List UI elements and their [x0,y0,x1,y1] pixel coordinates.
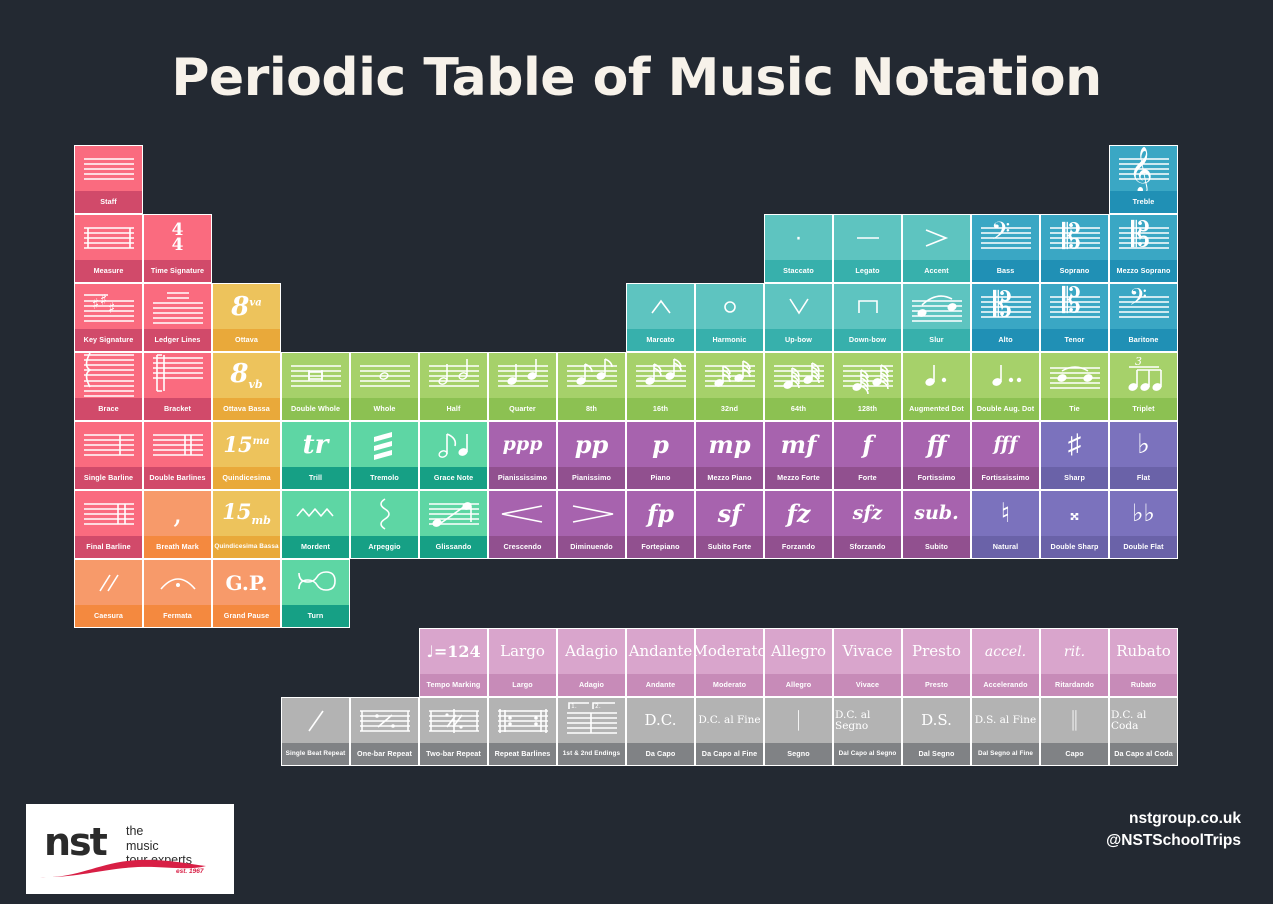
element-cell-up-bow[interactable]: Up-bow [764,283,833,352]
element-cell-single-barline[interactable]: Single Barline [74,421,143,490]
pp-icon: pp [558,422,625,467]
element-cell-tempo-marking[interactable]: ♩=124Tempo Marking [419,628,488,697]
element-cell-subito[interactable]: sub.Subito [902,490,971,559]
element-label: Andante [627,674,694,696]
element-cell-tie[interactable]: Tie [1040,352,1109,421]
brace-staff-icon [75,353,142,398]
page-title: Periodic Table of Music Notation [0,48,1273,108]
logo-swoosh-icon [38,858,208,880]
element-label: Grace Note [420,467,487,489]
triplet-notes-icon: 3 [1110,353,1177,398]
ff-icon: ff [903,422,970,467]
element-cell-repeat-barlines[interactable]: Repeat Barlines [488,697,557,766]
element-cell-legato[interactable]: Legato [833,214,902,283]
single-barline-icon [75,422,142,467]
element-cell-segno[interactable]: 𝄀Segno [764,697,833,766]
glissando-staff-icon [420,491,487,536]
svg-text:2.: 2. [595,703,601,710]
svg-text:𝄢: 𝄢 [1129,285,1147,316]
footer-social-handle[interactable]: @NSTSchoolTrips [1106,830,1241,852]
accel.-icon: accel. [972,629,1039,674]
element-cell-tenor[interactable]: 𝄡Tenor [1040,283,1109,352]
element-cell-32nd[interactable]: 32nd [695,352,764,421]
element-cell-grand-pause[interactable]: G.P.Grand Pause [212,559,281,628]
svg-text:1.: 1. [571,703,577,710]
element-label: Tempo Marking [420,674,487,696]
element-label: Final Barline [75,536,142,558]
element-cell-da-capo-al-fine[interactable]: D.C. al FineDa Capo al Fine [695,697,764,766]
tremolo-strokes-icon [351,422,418,467]
element-cell-double-whole[interactable]: Double Whole [281,352,350,421]
element-label: Vivace [834,674,901,696]
element-cell-bass[interactable]: 𝄢Bass [971,214,1040,283]
c-clef-tenor-icon: 𝄡 [1041,284,1108,329]
element-label: Two-bar Repeat [420,743,487,765]
c-clef-mezzo-icon: 𝄡 [1110,215,1177,260]
element-label: Largo [489,674,556,696]
element-label: Da Capo al Fine [696,743,763,765]
element-label: 8th [558,398,625,420]
element-cell-quarter[interactable]: Quarter [488,352,557,421]
element-label: Single Beat Repeat [282,743,349,765]
element-cell-presto[interactable]: PrestoPresto [902,628,971,697]
element-label: Ottava [213,329,280,351]
one-bar-repeat-icon [351,698,418,743]
element-cell-mezzo-piano[interactable]: mpMezzo Piano [695,421,764,490]
key-signature-icon: ♯♯♯ [75,284,142,329]
element-cell-pianississimo[interactable]: pppPianississimo [488,421,557,490]
8vb-icon: 8vb [213,353,280,398]
element-cell-allegro[interactable]: AllegroAllegro [764,628,833,697]
element-label: Double Whole [282,398,349,420]
rit.-icon: rit. [1041,629,1108,674]
element-cell-8th[interactable]: 8th [557,352,626,421]
element-label: Pianississimo [489,467,556,489]
element-cell-16th[interactable]: 16th [626,352,695,421]
element-cell-quindicesima-bassa[interactable]: 15mbQuindicesima Bassa [212,490,281,559]
element-label: Brace [75,398,142,420]
element-cell-dal-segno-al-fine[interactable]: D.S. al FineDal Segno al Fine [971,697,1040,766]
element-label: Arpeggio [351,536,418,558]
element-label: Fortississimo [972,467,1039,489]
double-barline-icon [144,422,211,467]
element-label: Allegro [765,674,832,696]
element-label: Time Signature [144,260,211,282]
element-cell-largo[interactable]: LargoLargo [488,628,557,697]
f-icon: f [834,422,901,467]
svg-text:3: 3 [1135,355,1142,368]
element-cell-moderato[interactable]: ModeratoModerato [695,628,764,697]
15ma-icon: 15ma [213,422,280,467]
element-label: Accelerando [972,674,1039,696]
element-cell-augmented-dot[interactable]: Augmented Dot [902,352,971,421]
element-cell-treble[interactable]: 𝄞Treble [1109,145,1178,214]
sharp-icon: ♯ [1041,422,1108,467]
staff-lines-icon [75,146,142,191]
element-label: Staff [75,191,142,213]
D.C. al Fine-icon: D.C. al Fine [696,698,763,743]
element-label: Bracket [144,398,211,420]
double-dotted-note-icon [972,353,1039,398]
element-label: 16th [627,398,694,420]
element-label: Subito Forte [696,536,763,558]
element-label: Trill [282,467,349,489]
element-cell-brace[interactable]: Brace [74,352,143,421]
dotted-note-icon [903,353,970,398]
Andante-icon: Andante [627,629,694,674]
element-cell-tremolo[interactable]: Tremolo [350,421,419,490]
element-cell-staccato[interactable]: ·Staccato [764,214,833,283]
element-cell-measure[interactable]: Measure [74,214,143,283]
element-label: Baritone [1110,329,1177,351]
element-label: Forte [834,467,901,489]
element-cell-ottava-bassa[interactable]: 8vbOttava Bassa [212,352,281,421]
element-label: Dal Capo al Segno [834,743,901,765]
mordent-zigzag-icon [282,491,349,536]
svg-text:♯: ♯ [92,295,99,313]
element-label: Tremolo [351,467,418,489]
whole-note-icon [351,353,418,398]
turn-glyph-icon [282,560,349,605]
element-label: Tie [1041,398,1108,420]
element-label: Mezzo Forte [765,467,832,489]
slur-staff-icon [903,284,970,329]
element-label: Marcato [627,329,694,351]
tie-staff-icon [1041,353,1108,398]
element-label: 1st & 2nd Endings [558,743,625,765]
element-cell-sharp[interactable]: ♯Sharp [1040,421,1109,490]
element-cell-caesura[interactable]: Caesura [74,559,143,628]
element-cell-grace-note[interactable]: Grace Note [419,421,488,490]
element-label: Pianissimo [558,467,625,489]
element-cell-ottava[interactable]: 8vaOttava [212,283,281,352]
mf-icon: mf [765,422,832,467]
nst-logo: nst themusictour experts est. 1967 [26,804,234,894]
measure-staff-icon [75,215,142,260]
element-cell-andante[interactable]: AndanteAndante [626,628,695,697]
element-label: 128th [834,398,901,420]
periodic-table-grid: StaffMeasure44Time Signature·StaccatoLeg… [74,145,1210,805]
flat-icon: ♭ [1110,422,1177,467]
element-label: Moderato [696,674,763,696]
element-cell-mezzo-forte[interactable]: mfMezzo Forte [764,421,833,490]
D.C. al Segno-icon: D.C. al Segno [834,698,901,743]
element-label: Fortissimo [903,467,970,489]
element-cell-mezzo-soprano[interactable]: 𝄡Mezzo Soprano [1109,214,1178,283]
element-label: Mezzo Piano [696,467,763,489]
D.C.-icon: D.C. [627,698,694,743]
fff-icon: fff [972,422,1039,467]
element-label: Rubato [1110,674,1177,696]
eighth-note-icon [558,353,625,398]
element-cell-baritone[interactable]: 𝄢Baritone [1109,283,1178,352]
element-label: Up-bow [765,329,832,351]
sub.-icon: sub. [903,491,970,536]
element-label: Forzando [765,536,832,558]
element-label: Triplet [1110,398,1177,420]
element-cell-double-aug-dot[interactable]: Double Aug. Dot [971,352,1040,421]
element-cell-fortissimo[interactable]: ffFortissimo [902,421,971,490]
fp-icon: fp [627,491,694,536]
sixtyfourth-note-icon [765,353,832,398]
ppp-icon: ppp [489,422,556,467]
element-label: Quindicesima [213,467,280,489]
up-bow-vee-icon [765,284,832,329]
element-label: Dal Segno al Fine [972,743,1039,765]
element-label: Whole [351,398,418,420]
element-cell-1st-2nd-endings[interactable]: 1.2.1st & 2nd Endings [557,697,626,766]
element-label: Single Barline [75,467,142,489]
element-cell-fortississimo[interactable]: fffFortississimo [971,421,1040,490]
D.S.-icon: D.S. [903,698,970,743]
element-label: Harmonic [696,329,763,351]
element-cell-128th[interactable]: 128th [833,352,902,421]
svg-text:𝄡: 𝄡 [993,285,1012,325]
coda-icon: 𝄁 [1041,698,1108,743]
element-cell-fortepiano[interactable]: fpFortepiano [626,490,695,559]
element-cell-double-barlines[interactable]: Double Barlines [143,421,212,490]
element-cell-ritardando[interactable]: rit.Ritardando [1040,628,1109,697]
element-label: Da Capo al Coda [1110,743,1177,765]
element-label: Accent [903,260,970,282]
element-cell-da-capo-al-coda[interactable]: D.C. al CodaDa Capo al Coda [1109,697,1178,766]
element-label: Turn [282,605,349,627]
element-cell-dal-segno[interactable]: D.S.Dal Segno [902,697,971,766]
quarter-note-icon [489,353,556,398]
4/4-icon: 44 [144,215,211,260]
element-label: Double Flat [1110,536,1177,558]
grace-note-icon [420,422,487,467]
Rubato-icon: Rubato [1110,629,1177,674]
element-cell-two-bar-repeat[interactable]: Two-bar Repeat [419,697,488,766]
element-cell-final-barline[interactable]: Final Barline [74,490,143,559]
element-cell-rubato[interactable]: RubatoRubato [1109,628,1178,697]
element-cell-mordent[interactable]: Mordent [281,490,350,559]
p-icon: p [627,422,694,467]
Allegro-icon: Allegro [765,629,832,674]
dot-icon: · [765,215,832,260]
element-label: Grand Pause [213,605,280,627]
caesura-slashes-icon [75,560,142,605]
sfz-icon: sfz [834,491,901,536]
Moderato-icon: Moderato [696,629,763,674]
element-label: Dal Segno [903,743,970,765]
segno-icon: 𝄀 [765,698,832,743]
element-cell-triplet[interactable]: 3Triplet [1109,352,1178,421]
sixteenth-note-icon [627,353,694,398]
element-cell-turn[interactable]: Turn [281,559,350,628]
element-label: Alto [972,329,1039,351]
fermata-arc-icon [144,560,211,605]
element-label: Double Barlines [144,467,211,489]
svg-text:𝄢: 𝄢 [991,217,1010,252]
element-cell-dal-capo-al-segno[interactable]: D.C. al SegnoDal Capo al Segno [833,697,902,766]
element-cell-natural[interactable]: ♮Natural [971,490,1040,559]
element-label: Caesura [75,605,142,627]
element-label: Natural [972,536,1039,558]
element-cell-adagio[interactable]: AdagioAdagio [557,628,626,697]
element-cell-fermata[interactable]: Fermata [143,559,212,628]
element-cell-vivace[interactable]: VivaceVivace [833,628,902,697]
element-cell-alto[interactable]: 𝄡Alto [971,283,1040,352]
element-label: Tenor [1041,329,1108,351]
element-cell-pianissimo[interactable]: ppPianissimo [557,421,626,490]
Adagio-icon: Adagio [558,629,625,674]
fz-icon: fz [765,491,832,536]
D.C. al Coda-icon: D.C. al Coda [1110,698,1177,743]
element-cell-time-signature[interactable]: 44Time Signature [143,214,212,283]
ledger-lines-icon [144,284,211,329]
element-cell-marcato[interactable]: Marcato [626,283,695,352]
element-cell-trill[interactable]: trTrill [281,421,350,490]
element-cell-subito-forte[interactable]: sfSubito Forte [695,490,764,559]
element-label: Sharp [1041,467,1108,489]
metronome-124-icon: ♩=124 [420,629,487,674]
element-label: Quindicesima Bassa [213,536,280,558]
element-label: One-bar Repeat [351,743,418,765]
15mb-icon: 15mb [213,491,280,536]
svg-text:♯: ♯ [108,299,115,317]
element-cell-quindicesima[interactable]: 15maQuindicesima [212,421,281,490]
element-cell-forzando[interactable]: fzForzando [764,490,833,559]
element-label: Ledger Lines [144,329,211,351]
element-cell-key-signature[interactable]: ♯♯♯Key Signature [74,283,143,352]
element-label: Piano [627,467,694,489]
bass-clef-staff-icon: 𝄢 [972,215,1039,260]
Vivace-icon: Vivace [834,629,901,674]
element-label: Slur [903,329,970,351]
element-cell-crescendo[interactable]: Crescendo [488,490,557,559]
element-cell-soprano[interactable]: 𝄡Soprano [1040,214,1109,283]
element-label: Fermata [144,605,211,627]
element-label: 64th [765,398,832,420]
element-cell-forte[interactable]: fForte [833,421,902,490]
8va-icon: 8va [213,284,280,329]
svg-text:♯: ♯ [100,291,107,309]
element-cell-double-flat[interactable]: ♭♭Double Flat [1109,490,1178,559]
element-cell-64th[interactable]: 64th [764,352,833,421]
element-cell-half[interactable]: Half [419,352,488,421]
element-cell-harmonic[interactable]: Harmonic [695,283,764,352]
treble-clef-staff-icon: 𝄞 [1110,146,1177,191]
element-cell-accelerando[interactable]: accel.Accelerando [971,628,1040,697]
element-label: Treble [1110,191,1177,213]
final-barline-icon [75,491,142,536]
f-clef-baritone-icon: 𝄢 [1110,284,1177,329]
element-cell-capo[interactable]: 𝄁Capo [1040,697,1109,766]
element-cell-da-capo[interactable]: D.C.Da Capo [626,697,695,766]
sf-icon: sf [696,491,763,536]
element-cell-diminuendo[interactable]: Diminuendo [557,490,626,559]
element-label: Repeat Barlines [489,743,556,765]
double-flat-icon: ♭♭ [1110,491,1177,536]
element-cell-piano[interactable]: pPiano [626,421,695,490]
diminuendo-hairpin-icon [558,491,625,536]
element-label: Diminuendo [558,536,625,558]
element-label: Segno [765,743,832,765]
repeat-barlines-icon [489,698,556,743]
element-cell-ledger-lines[interactable]: Ledger Lines [143,283,212,352]
element-label: Mezzo Soprano [1110,260,1177,282]
element-label: Breath Mark [144,536,211,558]
element-label: Subito [903,536,970,558]
element-label: Fortepiano [627,536,694,558]
volta-brackets-icon: 1.2. [558,698,625,743]
c-clef-soprano-icon: 𝄡 [1041,215,1108,260]
element-label: Sforzando [834,536,901,558]
element-cell-one-bar-repeat[interactable]: One-bar Repeat [350,697,419,766]
element-label: Double Sharp [1041,536,1108,558]
arpeggio-squiggle-icon [351,491,418,536]
footer-contact: nstgroup.co.uk @NSTSchoolTrips [1106,808,1241,852]
svg-text:𝄞: 𝄞 [1129,147,1153,191]
element-label: Da Capo [627,743,694,765]
Presto-icon: Presto [903,629,970,674]
element-cell-whole[interactable]: Whole [350,352,419,421]
element-label: Presto [903,674,970,696]
natural-icon: ♮ [972,491,1039,536]
D.S. al Fine-icon: D.S. al Fine [972,698,1039,743]
svg-text:𝄡: 𝄡 [1131,216,1150,255]
tr-icon: tr [282,422,349,467]
element-cell-slur[interactable]: Slur [902,283,971,352]
element-cell-glissando[interactable]: Glissando [419,490,488,559]
marcato-caret-icon [627,284,694,329]
c-clef-alto-icon: 𝄡 [972,284,1039,329]
element-label: Glissando [420,536,487,558]
element-cell-flat[interactable]: ♭Flat [1109,421,1178,490]
element-label: Adagio [558,674,625,696]
element-cell-down-bow[interactable]: Down-bow [833,283,902,352]
footer-website[interactable]: nstgroup.co.uk [1106,808,1241,830]
svg-text:𝄡: 𝄡 [1062,285,1081,321]
element-label: Ritardando [1041,674,1108,696]
thirtysecond-note-icon [696,353,763,398]
element-label: Quarter [489,398,556,420]
element-label: Augmented Dot [903,398,970,420]
element-label: Capo [1041,743,1108,765]
breath-comma-icon: , [144,491,211,536]
element-label: Key Signature [75,329,142,351]
element-cell-double-sharp[interactable]: 𝄪Double Sharp [1040,490,1109,559]
element-cell-bracket[interactable]: Bracket [143,352,212,421]
beat-repeat-slash-icon [282,698,349,743]
Largo-icon: Largo [489,629,556,674]
element-label: Bass [972,260,1039,282]
bracket-staff-icon [144,353,211,398]
element-cell-sforzando[interactable]: sfzSforzando [833,490,902,559]
down-bow-bracket-icon [834,284,901,329]
G.P.-icon: G.P. [213,560,280,605]
element-cell-staff[interactable]: Staff [74,145,143,214]
element-label: Half [420,398,487,420]
element-cell-breath-mark[interactable]: ,Breath Mark [143,490,212,559]
half-note-icon [420,353,487,398]
element-cell-single-beat-repeat[interactable]: Single Beat Repeat [281,697,350,766]
tenuto-line-icon [834,215,901,260]
element-cell-accent[interactable]: Accent [902,214,971,283]
element-label: Double Aug. Dot [972,398,1039,420]
element-label: Crescendo [489,536,556,558]
crescendo-hairpin-icon [489,491,556,536]
two-bar-repeat-icon [420,698,487,743]
breve-note-icon [282,353,349,398]
element-label: Staccato [765,260,832,282]
mp-icon: mp [696,422,763,467]
element-label: Flat [1110,467,1177,489]
element-label: Soprano [1041,260,1108,282]
element-cell-arpeggio[interactable]: Arpeggio [350,490,419,559]
